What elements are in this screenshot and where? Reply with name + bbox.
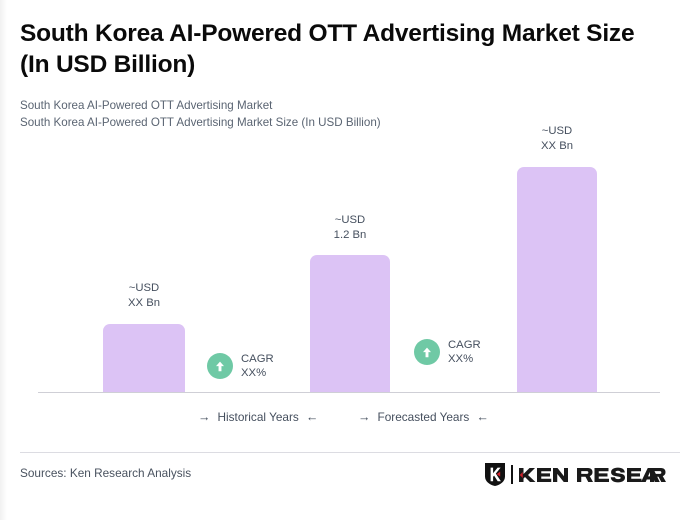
bar-2[interactable] [310, 255, 390, 392]
cagr-badge-2[interactable]: CAGR XX% [414, 338, 481, 366]
bar-value-label-3: ~USD XX Bn [517, 124, 597, 153]
cagr-badge-1-text: CAGR XX% [241, 352, 274, 380]
period-forecasted-label: Forecasted Years [378, 410, 470, 424]
arrow-left-icon: ← [476, 411, 489, 424]
cagr-badge-1-line1: CAGR [241, 352, 274, 366]
arrow-up-icon [414, 339, 440, 365]
chart-page: South Korea AI-Powered OTT Advertising M… [0, 0, 700, 520]
bar-1[interactable] [103, 324, 185, 392]
ken-research-logo [484, 462, 666, 487]
arrow-left-icon: ← [306, 411, 319, 424]
bar-value-label-1-line2: XX Bn [103, 296, 185, 311]
cagr-badge-2-text: CAGR XX% [448, 338, 481, 366]
period-legend: → Historical Years ← → Forecasted Years … [38, 408, 660, 432]
ken-research-wordmark [518, 466, 666, 484]
cagr-badge-1-line2: XX% [241, 366, 274, 380]
period-historical: → Historical Years ← [198, 410, 318, 424]
footer-divider [20, 452, 680, 453]
bar-value-label-2: ~USD 1.2 Bn [310, 213, 390, 242]
cagr-badge-2-line1: CAGR [448, 338, 481, 352]
arrow-up-icon [207, 353, 233, 379]
bar-value-label-3-line2: XX Bn [517, 139, 597, 154]
axis-baseline [38, 392, 660, 393]
arrow-right-icon: → [198, 411, 211, 424]
bar-value-label-1-line1: ~USD [103, 281, 185, 296]
sources-text: Sources: Ken Research Analysis [20, 466, 191, 480]
ken-research-shield-icon [484, 462, 506, 487]
bar-value-label-2-line1: ~USD [310, 213, 390, 228]
cagr-badge-1[interactable]: CAGR XX% [207, 352, 274, 380]
bar-value-label-1: ~USD XX Bn [103, 281, 185, 310]
logo-separator [511, 465, 513, 484]
period-forecasted: → Forecasted Years ← [358, 410, 489, 424]
cagr-badge-2-line2: XX% [448, 352, 481, 366]
bar-value-label-3-line1: ~USD [517, 124, 597, 139]
bar-value-label-2-line2: 1.2 Bn [310, 228, 390, 243]
plot-area: ~USD XX Bn ~USD 1.2 Bn ~USD XX Bn [0, 0, 700, 430]
bar-3[interactable] [517, 167, 597, 392]
period-historical-label: Historical Years [218, 410, 299, 424]
arrow-right-icon: → [358, 411, 371, 424]
